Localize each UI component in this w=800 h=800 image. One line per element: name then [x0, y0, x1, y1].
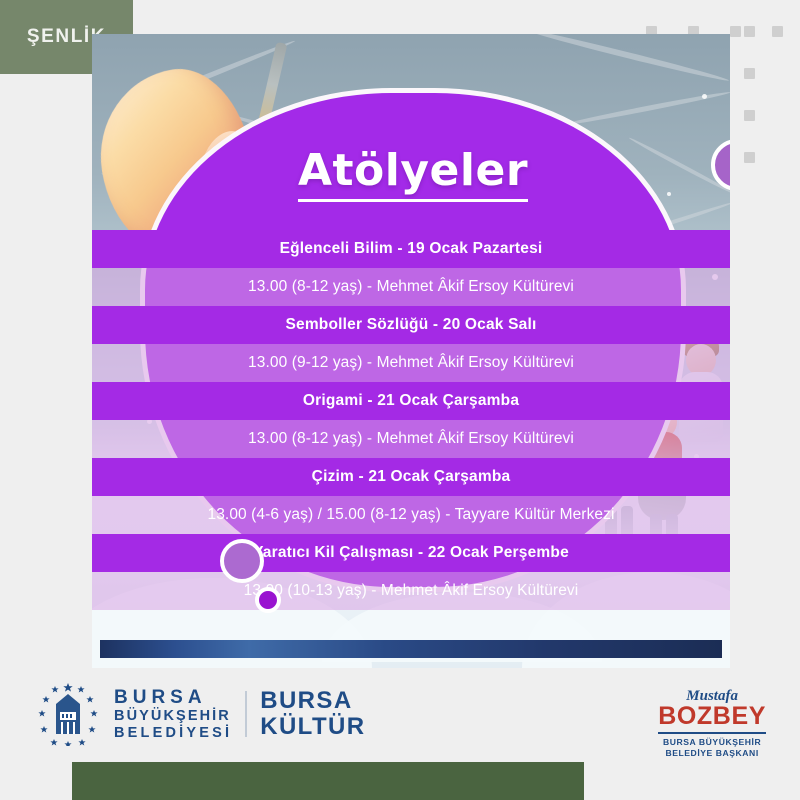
decorative-circle-tiny [255, 587, 281, 613]
green-footer-block [72, 762, 584, 800]
workshop-title: Çizim - 21 Ocak Çarşamba [92, 458, 730, 496]
workshop-detail: 13.00 (9-12 yaş) - Mehmet Âkif Ersoy Kül… [92, 344, 730, 382]
workshop-schedule-list: Eğlenceli Bilim - 19 Ocak Pazartesi 13.0… [92, 230, 730, 610]
dot [744, 26, 755, 37]
mayor-branding: Mustafa BOZBEY BURSA BÜYÜKŞEHİR BELEDİYE… [658, 688, 766, 759]
poster-image: Atölyeler Eğlenceli Bilim - 19 Ocak Paza… [92, 34, 730, 668]
workshop-title: Eğlenceli Bilim - 19 Ocak Pazartesi [92, 230, 730, 268]
decorative-circle-large [220, 539, 264, 583]
municipality-wordmark: BURSA BÜYÜKŞEHİR BELEDİYESİ [114, 687, 232, 741]
kultur-line1: BURSA [260, 688, 365, 714]
poster-title: Atölyeler [145, 145, 681, 196]
mayor-title-line1: BURSA BÜYÜKŞEHİR [658, 737, 766, 748]
brand-divider [245, 691, 247, 737]
dot [730, 26, 741, 37]
dot [744, 68, 755, 79]
workshop-detail: 13.00 (10-13 yaş) - Mehmet Âkif Ersoy Kü… [92, 572, 730, 610]
snowflake [702, 94, 707, 99]
workshop-detail: 13.00 (8-12 yaş) - Mehmet Âkif Ersoy Kül… [92, 420, 730, 458]
kultur-line2: KÜLTÜR [260, 714, 365, 740]
dot [744, 110, 755, 121]
workshop-title: Origami - 21 Ocak Çarşamba [92, 382, 730, 420]
municipality-line2: BÜYÜKŞEHİR [114, 708, 232, 724]
mayor-title-line2: BELEDİYE BAŞKANI [658, 748, 766, 759]
branch [524, 34, 729, 83]
poster-navy-bar [100, 640, 722, 658]
workshop-title: Semboller Sözlüğü - 20 Ocak Salı [92, 306, 730, 344]
municipality-line1: BURSA [114, 687, 232, 708]
mayor-last-name: BOZBEY [658, 704, 766, 729]
mayor-rule [658, 732, 766, 734]
municipality-line3: BELEDİYESİ [114, 725, 232, 741]
decorative-dot-column [744, 26, 755, 163]
bursa-kultur-wordmark: BURSA KÜLTÜR [260, 688, 365, 740]
workshop-detail: 13.00 (4-6 yaş) / 15.00 (8-12 yaş) - Tay… [92, 496, 730, 534]
workshop-title: Yaratıcı Kil Çalışması - 22 Ocak Perşemb… [92, 534, 730, 572]
dot [772, 26, 783, 37]
workshop-detail: 13.00 (8-12 yaş) - Mehmet Âkif Ersoy Kül… [92, 268, 730, 306]
dot [744, 152, 755, 163]
municipality-branding: BURSA BÜYÜKŞEHİR BELEDİYESİ BURSA KÜLTÜR [36, 682, 366, 746]
brand-wordmarks: BURSA BÜYÜKŞEHİR BELEDİYESİ BURSA KÜLTÜR [114, 687, 366, 741]
bursa-crest-icon [36, 682, 100, 746]
